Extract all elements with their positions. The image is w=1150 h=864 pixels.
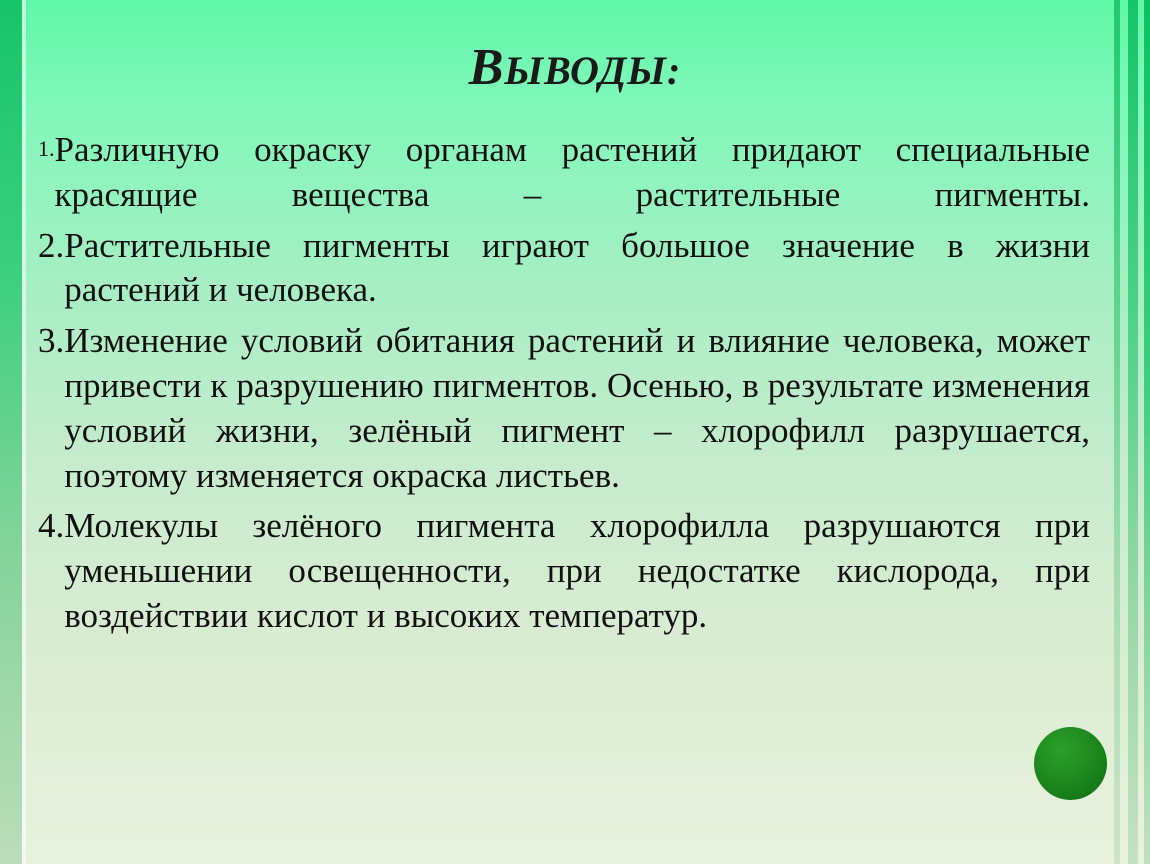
list-item-marker: 2. bbox=[38, 224, 64, 269]
right-edge-decoration-middle bbox=[1128, 0, 1138, 864]
list-item-marker: 4. bbox=[38, 504, 64, 549]
slide-body: 1. Различную окраску органам растений пр… bbox=[38, 128, 1090, 645]
green-circle-decoration bbox=[1034, 727, 1107, 800]
right-edge-decoration-inner bbox=[1144, 0, 1150, 864]
list-item: 1. Различную окраску органам растений пр… bbox=[38, 128, 1090, 218]
left-edge-decoration bbox=[0, 0, 22, 864]
presentation-slide: ВЫВОДЫ: 1. Различную окраску органам рас… bbox=[0, 0, 1150, 864]
list-item-text: Растительные пигменты играют большое зна… bbox=[64, 224, 1090, 314]
list-item-text: Молекулы зелёного пигмента хлорофилла ра… bbox=[64, 504, 1090, 638]
list-item: 2. Растительные пигменты играют большое … bbox=[38, 224, 1090, 314]
right-edge-decoration-outer bbox=[1114, 0, 1120, 864]
slide-title: ВЫВОДЫ: bbox=[0, 38, 1150, 97]
list-item: 4. Молекулы зелёного пигмента хлорофилла… bbox=[38, 504, 1090, 638]
slide-title-initial: В bbox=[469, 39, 505, 96]
slide-title-rest: ЫВОДЫ: bbox=[504, 48, 681, 93]
list-item-marker: 1. bbox=[38, 128, 55, 171]
list-item: 3. Изменение условий обитания растений и… bbox=[38, 319, 1090, 498]
list-item-marker: 3. bbox=[38, 319, 64, 364]
left-edge-highlight bbox=[22, 0, 26, 864]
list-item-text: Изменение условий обитания растений и вл… bbox=[64, 319, 1090, 498]
list-item-text: Различную окраску органам растений прида… bbox=[55, 128, 1091, 218]
